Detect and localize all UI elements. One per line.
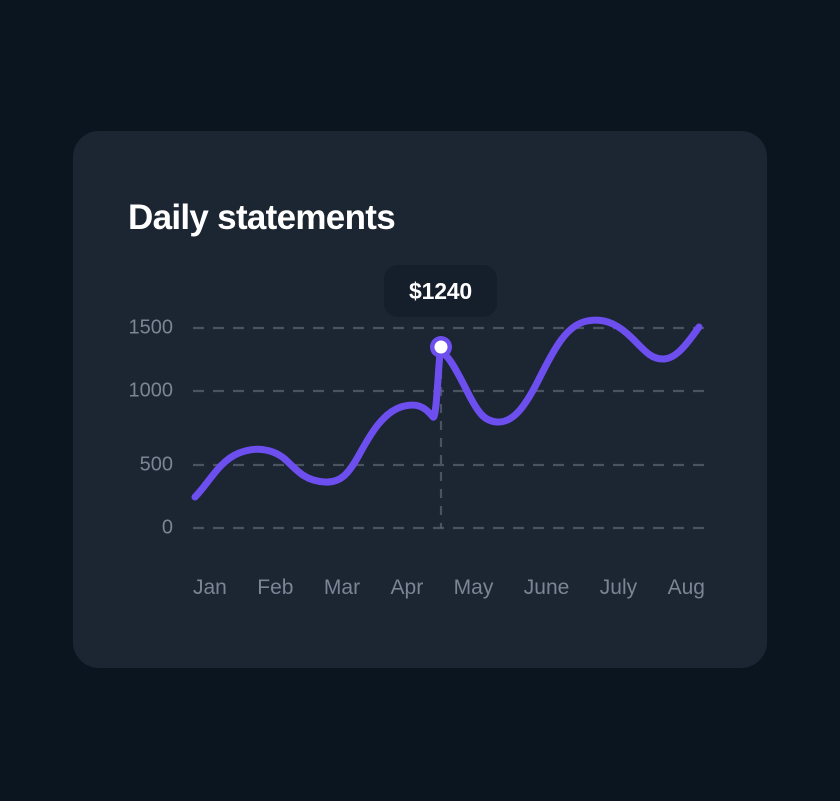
x-tick-apr: Apr: [391, 576, 424, 600]
x-tick-feb: Feb: [257, 576, 293, 600]
x-tick-jan: Jan: [193, 576, 227, 600]
chart-plot-area: 1500 1000 500 0 Jan Feb Mar Apr May June…: [73, 131, 767, 668]
x-tick-june: June: [524, 576, 570, 600]
highlight-marker[interactable]: [430, 336, 452, 358]
tooltip-value-text: $1240: [409, 278, 472, 305]
x-axis: Jan Feb Mar Apr May June July Aug: [193, 573, 705, 603]
daily-statements-card: Daily statements: [73, 131, 767, 668]
x-tick-july: July: [600, 576, 637, 600]
x-tick-may: May: [454, 576, 494, 600]
highlight-marker-dot: [435, 341, 448, 354]
x-tick-mar: Mar: [324, 576, 360, 600]
page-root: Daily statements: [0, 0, 840, 801]
x-tick-aug: Aug: [668, 576, 705, 600]
value-tooltip: $1240: [384, 265, 497, 317]
